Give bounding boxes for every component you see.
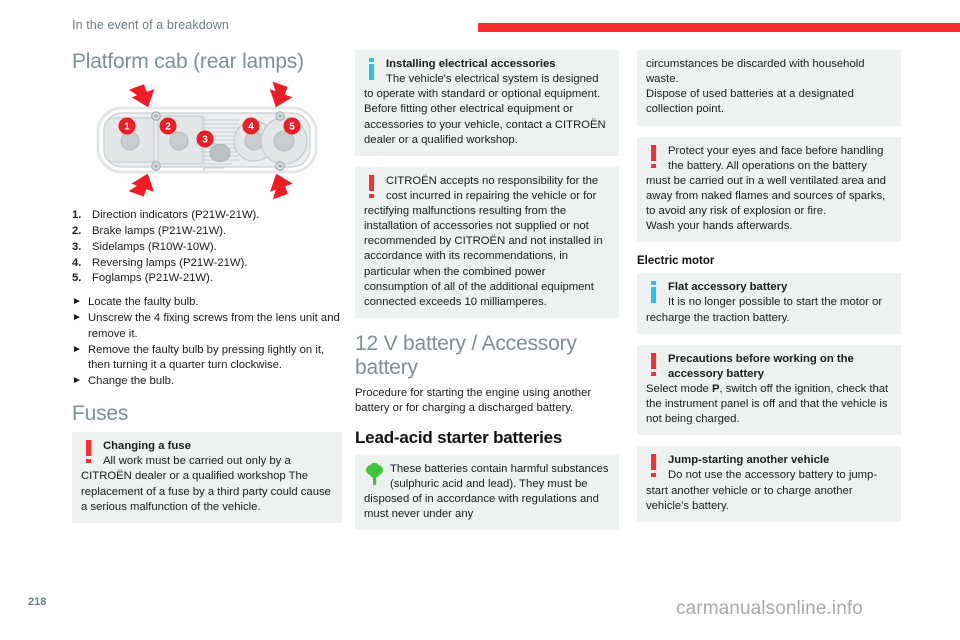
step-item: ► Change the bulb.: [72, 374, 342, 390]
callout-precautions-accessory-battery: Precautions before working on the access…: [637, 345, 901, 436]
lamp-list: 1. Direction indicators (P21W-21W). 2. B…: [72, 208, 342, 287]
svg-text:3: 3: [202, 135, 208, 146]
svg-text:1: 1: [124, 122, 130, 133]
list-item: 5. Foglamps (P21W-21W).: [72, 271, 342, 287]
list-number: 5.: [72, 271, 81, 287]
warning-icon: [648, 145, 661, 171]
fuses-title: Fuses: [72, 402, 342, 426]
warning-icon: [366, 175, 379, 201]
callout-text: CITROËN accepts no responsibility for th…: [364, 175, 603, 308]
step-item: ► Remove the faulty bulb by pressing lig…: [72, 343, 342, 375]
header-red-rule: [478, 23, 960, 32]
callout-battery-environment-continued: circumstances be discarded with househol…: [637, 50, 901, 126]
list-text: Reversing lamps (P21W-21W).: [92, 257, 247, 269]
page-header: In the event of a breakdown: [0, 18, 960, 40]
callout-title: Flat accessory battery: [668, 281, 787, 293]
list-text: Brake lamps (P21W-21W).: [92, 225, 226, 237]
callout-citroen-responsibility: CITROËN accepts no responsibility for th…: [355, 167, 619, 318]
info-icon: [648, 281, 661, 307]
callout-title: Jump-starting another vehicle: [668, 454, 829, 466]
list-text: Direction indicators (P21W-21W).: [92, 209, 259, 221]
manual-page: In the event of a breakdown Platform cab…: [0, 0, 960, 640]
info-icon: [366, 58, 379, 84]
svg-text:2: 2: [165, 122, 171, 133]
list-number: 1.: [72, 208, 81, 224]
callout-jump-starting-another-vehicle: Jump-starting another vehicle Do not use…: [637, 446, 901, 522]
callout-text: circumstances be discarded with househol…: [646, 58, 865, 85]
callout-battery-environment: These batteries contain harmful substanc…: [355, 455, 619, 531]
list-item: 4. Reversing lamps (P21W-21W).: [72, 256, 342, 272]
column-right: circumstances be discarded with househol…: [637, 50, 901, 533]
callout-text-2: Wash your hands afterwards.: [646, 220, 793, 232]
step-text: Locate the faulty bulb.: [88, 296, 199, 308]
callout-text-pre: Select mode: [646, 383, 712, 395]
svg-text:5: 5: [289, 122, 295, 133]
list-number: 3.: [72, 240, 81, 256]
triangle-bullet-icon: ►: [72, 343, 82, 357]
callout-title: Installing electrical accessories: [386, 58, 556, 70]
step-text: Change the bulb.: [88, 375, 174, 387]
callout-text: Do not use the accessory battery to jump…: [646, 469, 877, 511]
callout-text: The vehicle's electrical system is desig…: [364, 73, 606, 146]
list-number: 2.: [72, 224, 81, 240]
list-text: Sidelamps (R10W-10W).: [92, 241, 217, 253]
list-item: 1. Direction indicators (P21W-21W).: [72, 208, 342, 224]
rear-lamp-cluster-diagram: 1 2 3 4 5: [72, 80, 342, 200]
tree-icon: [365, 463, 384, 489]
triangle-bullet-icon: ►: [72, 311, 82, 325]
callout-protect-eyes: Protect your eyes and face before handli…: [637, 137, 901, 243]
warning-icon: [83, 440, 96, 466]
callout-installing-electrical-accessories: Installing electrical accessories The ve…: [355, 50, 619, 156]
callout-changing-a-fuse: Changing a fuse All work must be carried…: [72, 432, 342, 523]
step-text: Unscrew the 4 fixing screws from the len…: [88, 312, 340, 340]
column-middle: Installing electrical accessories The ve…: [355, 50, 619, 541]
procedure-steps: ► Locate the faulty bulb. ► Unscrew the …: [72, 295, 342, 390]
lead-acid-subtitle: Lead-acid starter batteries: [355, 428, 619, 448]
callout-text-2: Dispose of used batteries at a designate…: [646, 88, 854, 115]
battery-section-title: 12 V battery / Accessory battery: [355, 332, 619, 380]
callout-title: Changing a fuse: [103, 440, 191, 452]
callout-text: All work must be carried out only by a C…: [81, 455, 331, 512]
step-item: ► Unscrew the 4 fixing screws from the l…: [72, 311, 342, 343]
page-number: 218: [28, 596, 46, 608]
column-left: Platform cab (rear lamps): [72, 50, 342, 534]
battery-intro-text: Procedure for starting the engine using …: [355, 386, 619, 416]
list-item: 2. Brake lamps (P21W-21W).: [72, 224, 342, 240]
callout-text: Protect your eyes and face before handli…: [646, 145, 886, 218]
list-number: 4.: [72, 256, 81, 272]
triangle-bullet-icon: ►: [72, 295, 82, 309]
svg-text:4: 4: [248, 122, 254, 133]
warning-icon: [648, 454, 661, 480]
callout-text: These batteries contain harmful substanc…: [364, 463, 609, 520]
callout-title: Precautions before working on the access…: [668, 353, 854, 380]
callout-flat-accessory-battery: Flat accessory battery It is no longer p…: [637, 273, 901, 333]
callout-text: It is no longer possible to start the mo…: [646, 296, 882, 323]
triangle-bullet-icon: ►: [72, 374, 82, 388]
electric-motor-subtitle: Electric motor: [637, 255, 901, 267]
list-text: Foglamps (P21W-21W).: [92, 272, 213, 284]
list-item: 3. Sidelamps (R10W-10W).: [72, 240, 342, 256]
step-item: ► Locate the faulty bulb.: [72, 295, 342, 311]
page-title: Platform cab (rear lamps): [72, 50, 342, 74]
breadcrumb: In the event of a breakdown: [72, 18, 229, 32]
warning-icon: [648, 353, 661, 379]
step-text: Remove the faulty bulb by pressing light…: [88, 344, 324, 372]
watermark: carmanualsonline.info: [676, 598, 863, 620]
